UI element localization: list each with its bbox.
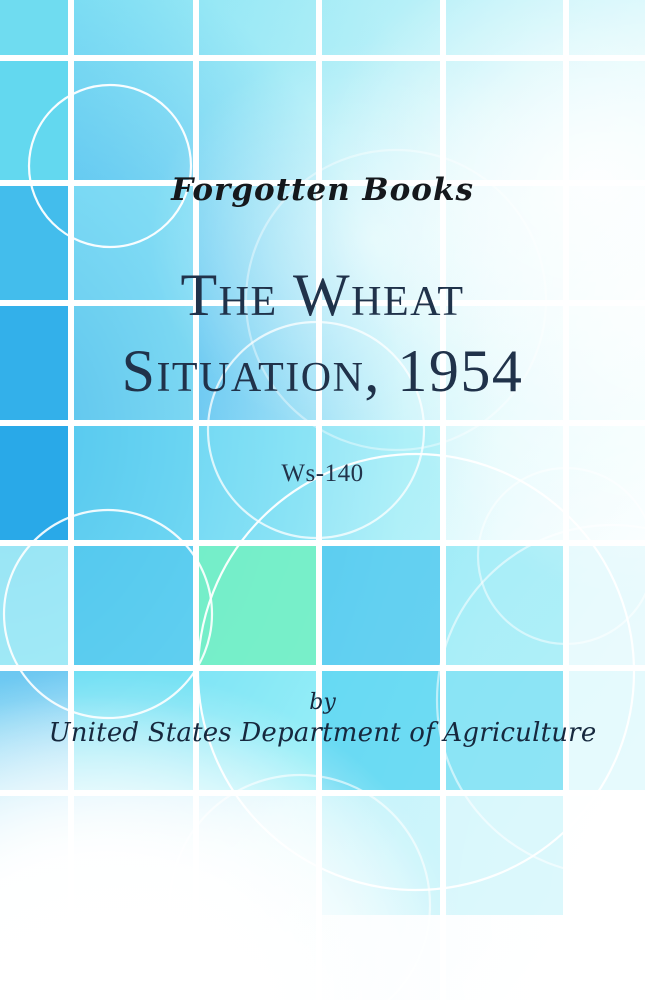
book-title: The Wheat Situation, 1954 [46, 258, 599, 409]
book-subtitle: Ws-140 [0, 460, 645, 488]
cover-content: Forgotten Books The Wheat Situation, 195… [0, 0, 645, 1000]
book-cover: Forgotten Books The Wheat Situation, 195… [0, 0, 645, 1000]
forgotten-books-logo: Forgotten Books [0, 172, 645, 208]
book-author: United States Department of Agriculture [0, 718, 645, 748]
byline-label: by [0, 690, 645, 715]
